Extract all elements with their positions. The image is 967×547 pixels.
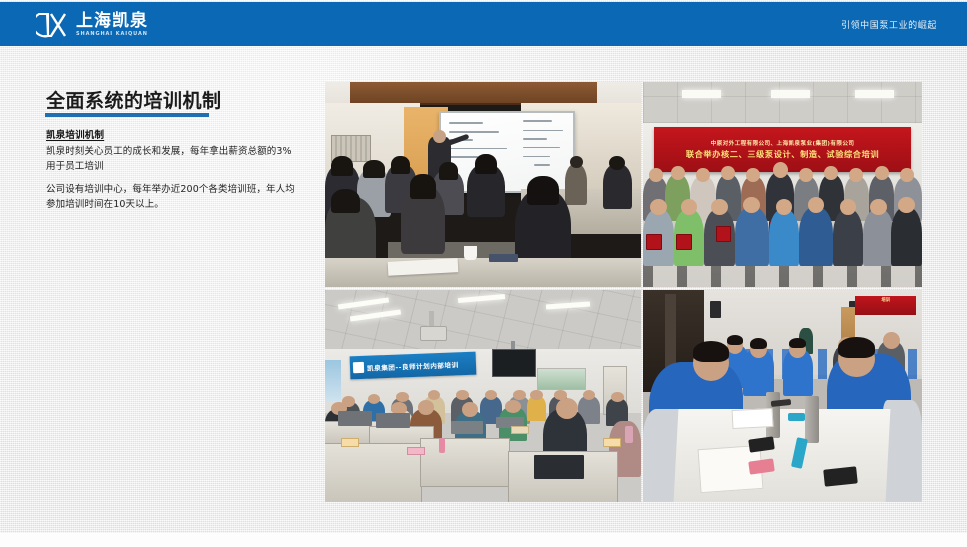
company-logo: 上海凯泉 SHANGHAI KAIQUAN xyxy=(36,10,148,40)
logo-wordmark: 上海凯泉 SHANGHAI KAIQUAN xyxy=(76,13,148,37)
banner-line-1: 中原对外工程有限公司、上海凯泉泵业(集团)有限公司 xyxy=(711,139,855,147)
body-subheading: 凯泉培训机制 xyxy=(46,127,298,141)
photo-lecture-hall xyxy=(325,82,641,287)
page-title: 全面系统的培训机制 xyxy=(46,86,222,113)
body-text-block: 凯泉培训机制 凯泉时刻关心员工的成长和发展，每年拿出薪资总额的3%用于员工培训 … xyxy=(46,127,298,213)
photo-grid: 中原对外工程有限公司、上海凯泉泵业(集团)有限公司 联合举办核二、三级泵设计、制… xyxy=(325,82,922,502)
slide-canvas: 上海凯泉 SHANGHAI KAIQUAN 引领中国泵工业的崛起 全面系统的培训… xyxy=(0,0,967,547)
wall-monitor xyxy=(492,349,535,376)
body-paragraph-2: 公司设有培训中心，每年举办近200个各类培训班，年人均参加培训时间在10天以上。 xyxy=(46,183,298,212)
wall-red-sign: 培训 xyxy=(855,296,916,315)
kaiquan-mark-icon xyxy=(353,362,364,373)
bottom-strip xyxy=(0,533,967,547)
logo-chinese-name: 上海凯泉 xyxy=(76,13,148,30)
photo-workshop-discussion: 培训 xyxy=(643,290,922,502)
kaiquan-monogram-icon xyxy=(36,11,70,39)
blue-banner-text: 凯泉集团--良师计划内部培训 xyxy=(367,359,459,373)
banner-line-2: 联合举办核二、三级泵设计、制造、试验综合培训 xyxy=(686,148,879,160)
blue-banner: 凯泉集团--良师计划内部培训 xyxy=(350,351,477,379)
photo-group-certificate: 中原对外工程有限公司、上海凯泉泵业(集团)有限公司 联合举办核二、三级泵设计、制… xyxy=(643,82,922,287)
photo-classroom-computers: 凯泉集团--良师计划内部培训 xyxy=(325,290,641,502)
header-tagline: 引领中国泵工业的崛起 xyxy=(841,2,937,46)
title-underline-rule xyxy=(45,113,209,117)
slide-header-bar: 上海凯泉 SHANGHAI KAIQUAN 引领中国泵工业的崛起 xyxy=(0,2,967,46)
body-paragraph-1: 凯泉时刻关心员工的成长和发展，每年拿出薪资总额的3%用于员工培训 xyxy=(46,145,298,174)
logo-english-name: SHANGHAI KAIQUAN xyxy=(76,32,148,37)
